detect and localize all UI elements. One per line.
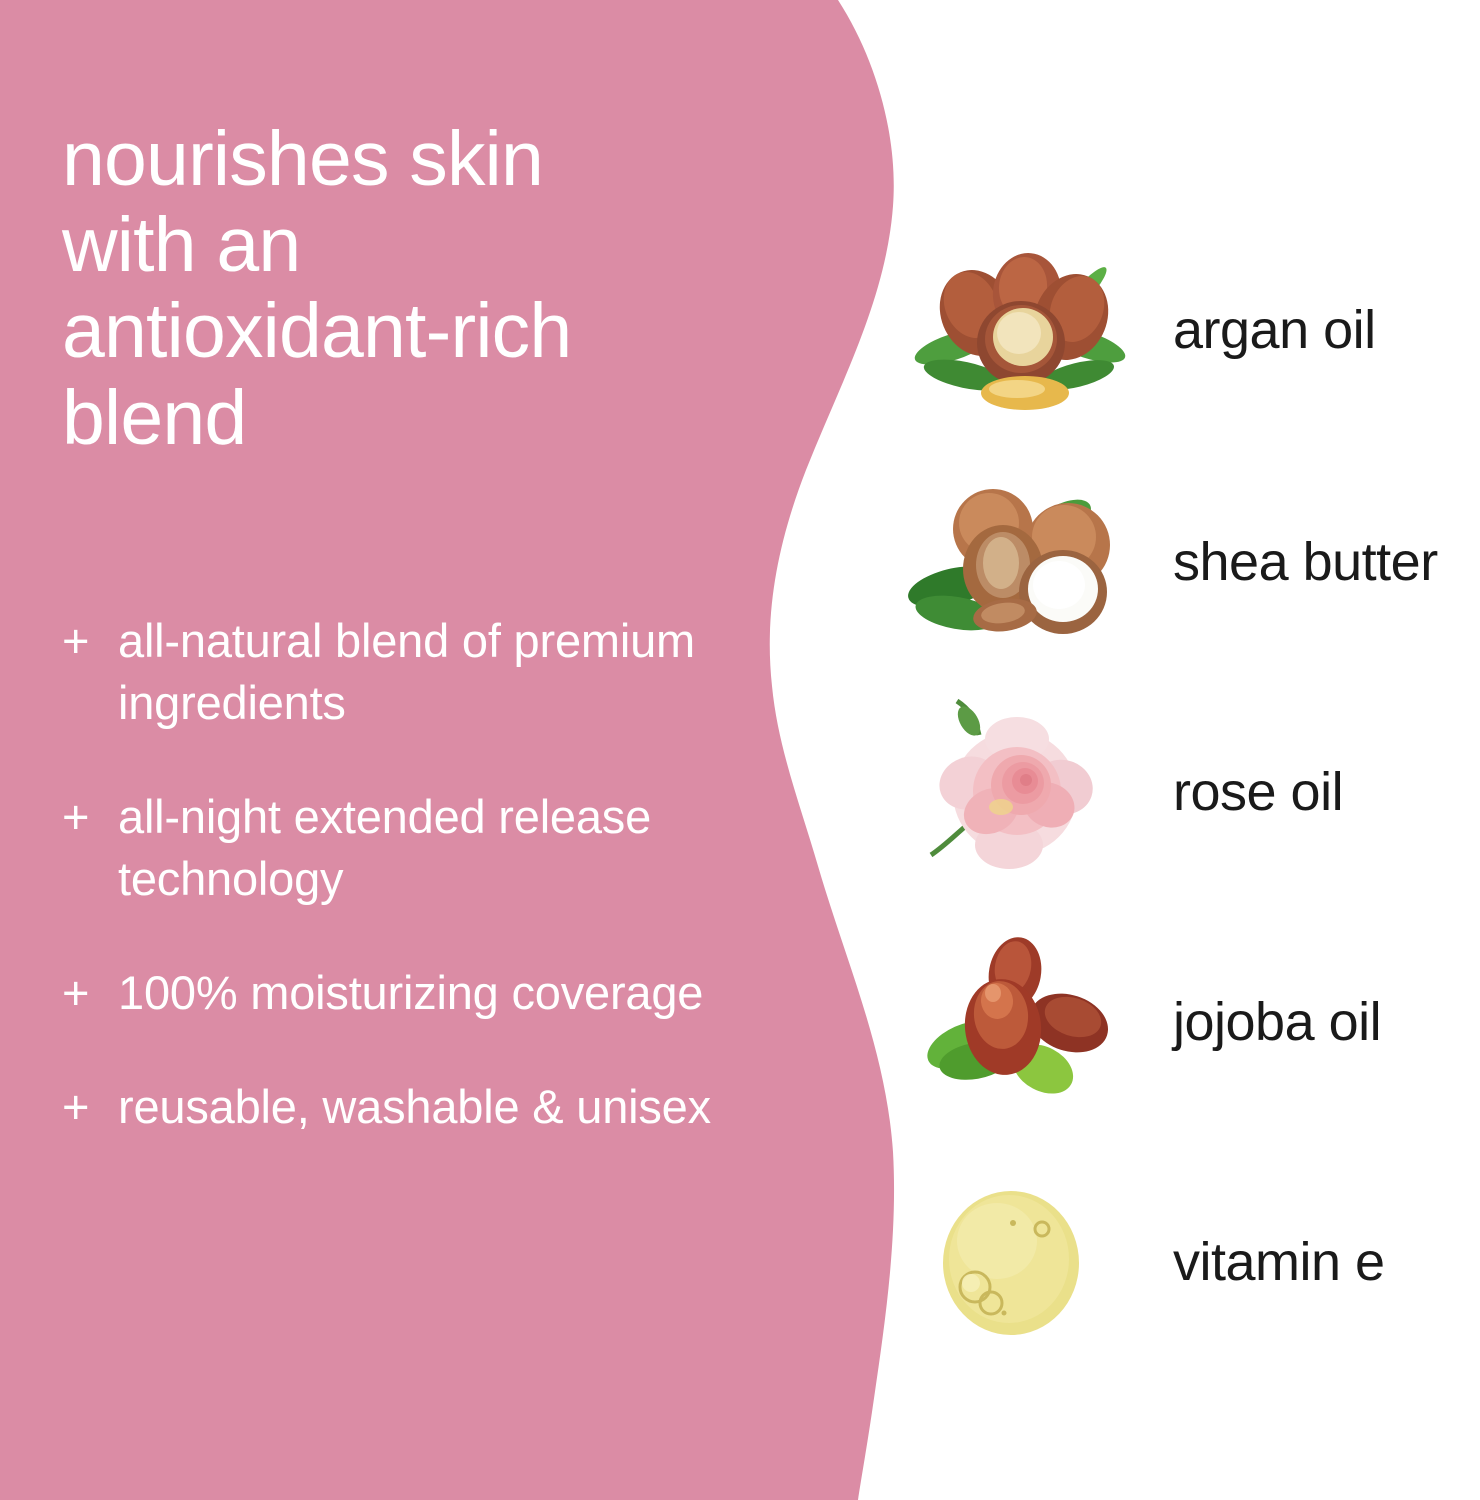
list-item-label: vitamin e	[1135, 1231, 1480, 1293]
ingredients-list: argan oil	[905, 0, 1480, 1500]
list-item-label: all-natural blend of premium ingredients	[118, 610, 722, 734]
benefits-list: + all-natural blend of premium ingredien…	[62, 610, 722, 1190]
list-item-label: reusable, washable & unisex	[118, 1076, 722, 1138]
rose-flower-icon	[905, 697, 1135, 887]
list-item: rose oil	[905, 692, 1480, 892]
list-item: + all-night extended release technology	[62, 786, 722, 910]
plus-icon: +	[62, 1076, 118, 1138]
list-item: + reusable, washable & unisex	[62, 1076, 722, 1138]
list-item: vitamin e	[905, 1162, 1480, 1362]
ingredient-infographic: nourishes skin with an antioxidant-rich …	[0, 0, 1480, 1500]
list-item-label: shea butter	[1135, 531, 1480, 593]
argan-nuts-icon	[905, 235, 1135, 425]
list-item-label: 100% moisturizing coverage	[118, 962, 722, 1024]
page-title: nourishes skin with an antioxidant-rich …	[62, 116, 752, 461]
shea-nuts-icon	[905, 467, 1135, 657]
list-item: shea butter	[905, 462, 1480, 662]
list-item: argan oil	[905, 230, 1480, 430]
list-item-label: all-night extended release technology	[118, 786, 722, 910]
list-item-label: argan oil	[1135, 299, 1480, 361]
list-item: jojoba oil	[905, 922, 1480, 1122]
plus-icon: +	[62, 962, 118, 1024]
jojoba-berry-icon	[905, 927, 1135, 1117]
left-content-column: nourishes skin with an antioxidant-rich …	[62, 0, 762, 1500]
list-item-label: jojoba oil	[1135, 991, 1480, 1053]
oil-droplet-icon	[905, 1167, 1135, 1357]
list-item: + 100% moisturizing coverage	[62, 962, 722, 1024]
plus-icon: +	[62, 786, 118, 848]
list-item: + all-natural blend of premium ingredien…	[62, 610, 722, 734]
plus-icon: +	[62, 610, 118, 672]
list-item-label: rose oil	[1135, 761, 1480, 823]
